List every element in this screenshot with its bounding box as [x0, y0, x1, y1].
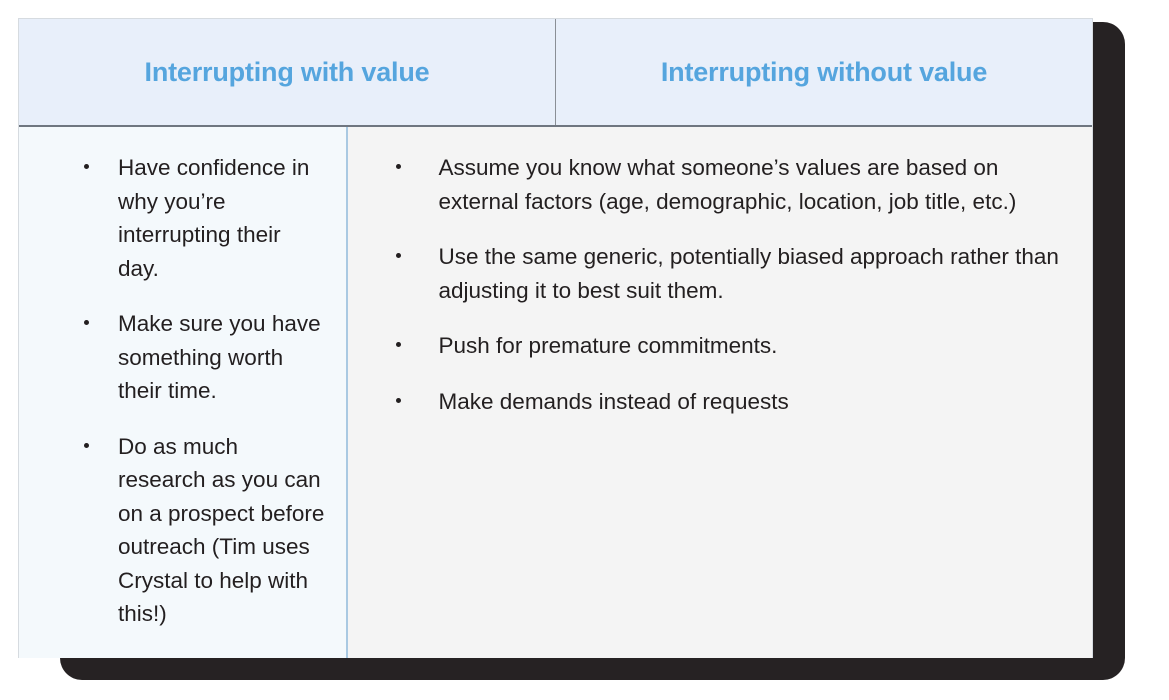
- bullet-dot-icon: [396, 398, 401, 403]
- bullet-dot-icon: [84, 443, 89, 448]
- bullet-dot-icon: [396, 342, 401, 347]
- list-item-text: Assume you know what someone’s values ar…: [439, 151, 1074, 218]
- list-item-text: Have confidence in why you’re interrupti…: [118, 151, 328, 285]
- bullet-dot-icon: [84, 164, 89, 169]
- table-header-row: Interrupting with value Interrupting wit…: [19, 19, 1092, 127]
- column-header-title-left: Interrupting with value: [145, 56, 430, 88]
- bullet-dot-icon: [396, 253, 401, 258]
- list-item: Ask engaging, challenging questions.: [37, 653, 328, 659]
- list-item: Make sure you have something worth their…: [37, 307, 328, 408]
- table-body-row: Have confidence in why you’re interrupti…: [19, 127, 1092, 658]
- list-item: Do as much research as you can on a pros…: [37, 430, 328, 631]
- list-item-text: Ask engaging, challenging questions.: [118, 653, 328, 659]
- list-item: Make demands instead of requests: [366, 385, 1074, 419]
- list-item-text: Make demands instead of requests: [439, 385, 1074, 419]
- list-item-text: Do as much research as you can on a pros…: [118, 430, 328, 631]
- list-item: Use the same generic, potentially biased…: [366, 240, 1074, 307]
- table-body-cell-left: Have confidence in why you’re interrupti…: [19, 127, 348, 658]
- table-header-cell-left: Interrupting with value: [19, 19, 556, 125]
- list-item: Push for premature commitments.: [366, 329, 1074, 363]
- table-body-cell-right: Assume you know what someone’s values ar…: [348, 127, 1092, 658]
- comparison-table: Interrupting with value Interrupting wit…: [18, 18, 1093, 658]
- list-item: Have confidence in why you’re interrupti…: [37, 151, 328, 285]
- list-item-text: Use the same generic, potentially biased…: [439, 240, 1074, 307]
- list-item-text: Push for premature commitments.: [439, 329, 1074, 363]
- slide-canvas: Interrupting with value Interrupting wit…: [0, 0, 1169, 700]
- table-header-cell-right: Interrupting without value: [556, 19, 1092, 125]
- list-item: Assume you know what someone’s values ar…: [366, 151, 1074, 218]
- column-header-title-right: Interrupting without value: [661, 56, 987, 88]
- bullet-dot-icon: [84, 320, 89, 325]
- bullet-list-left: Have confidence in why you’re interrupti…: [37, 151, 328, 658]
- bullet-dot-icon: [396, 164, 401, 169]
- list-item-text: Make sure you have something worth their…: [118, 307, 328, 408]
- bullet-list-right: Assume you know what someone’s values ar…: [366, 151, 1074, 418]
